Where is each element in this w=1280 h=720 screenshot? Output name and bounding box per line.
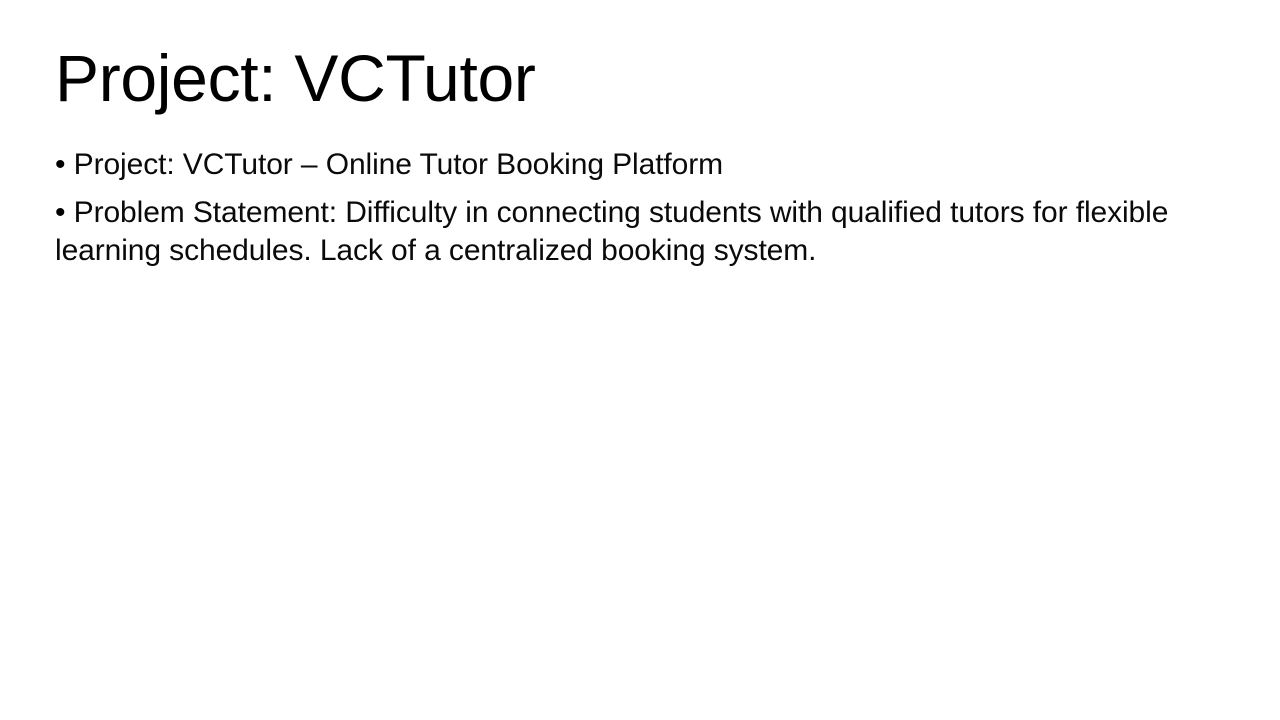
bullet-icon: • <box>55 148 65 181</box>
list-item: • Problem Statement: Difficulty in conne… <box>55 194 1195 270</box>
bullet-icon: • <box>55 196 65 229</box>
list-item: • Project: VCTutor – Online Tutor Bookin… <box>55 146 1195 184</box>
bullet-list: • Project: VCTutor – Online Tutor Bookin… <box>55 146 1195 270</box>
list-item-text: Problem Statement: Difficulty in connect… <box>55 196 1168 267</box>
slide-canvas: Project: VCTutor • Project: VCTutor – On… <box>0 0 1280 720</box>
list-item-text: Project: VCTutor – Online Tutor Booking … <box>74 148 723 181</box>
page-title: Project: VCTutor <box>55 44 1205 114</box>
